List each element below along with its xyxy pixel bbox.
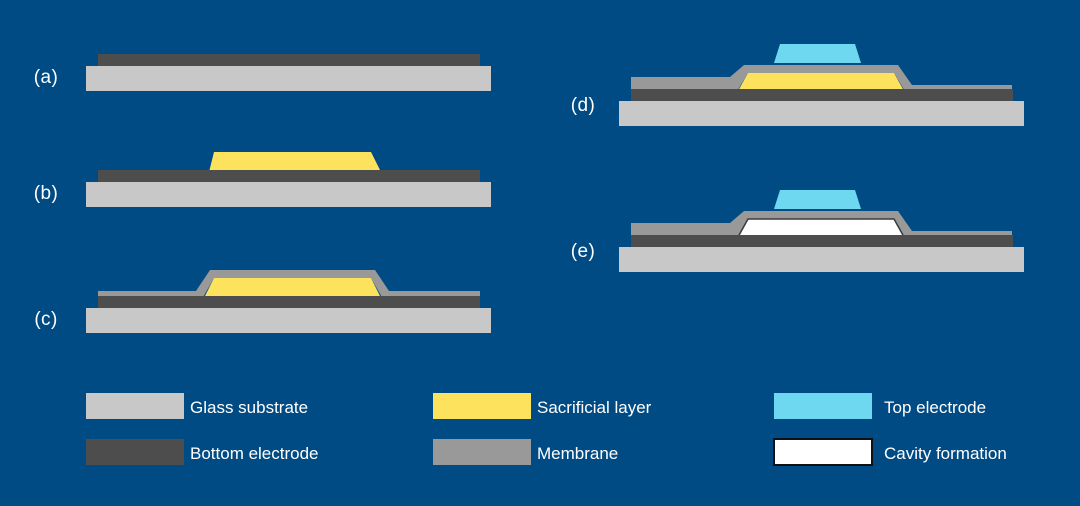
legend-swatch-sacrificial-layer: [433, 393, 531, 419]
panel-b-sacrificial-layer: [209, 152, 381, 172]
legend-label-cavity-formation: Cavity formation: [884, 444, 1007, 463]
panel-d-top-electrode: [774, 44, 861, 63]
panel-a-glass-substrate: [86, 66, 491, 91]
panel-d-bottom-electrode: [631, 89, 1013, 101]
legend-swatch-bottom-electrode: [86, 439, 184, 465]
panel-c-sacrificial-layer: [204, 278, 381, 298]
legend-swatch-membrane: [433, 439, 531, 465]
legend-label-membrane: Membrane: [537, 444, 618, 463]
panel-a-label: (a): [34, 67, 58, 88]
panel-d-glass-substrate: [619, 101, 1024, 126]
legend-label-top-electrode: Top electrode: [884, 398, 986, 417]
legend-swatch-top-electrode: [774, 393, 872, 419]
panel-c-label: (c): [34, 309, 57, 330]
panel-c-glass-substrate: [86, 308, 491, 333]
legend-label-glass-substrate: Glass substrate: [190, 398, 308, 417]
process-flow-diagram: (a) (b) (c) (d) (e) Glass: [0, 0, 1080, 506]
panel-b-bottom-electrode: [98, 170, 480, 182]
panel-b-glass-substrate: [86, 182, 491, 207]
panel-e-top-electrode: [774, 190, 861, 209]
panel-d-sacrificial-layer: [738, 73, 904, 91]
panel-c-bottom-electrode: [98, 296, 480, 308]
panel-a-bottom-electrode: [98, 54, 480, 66]
panel-e-label: (e): [571, 241, 595, 262]
legend-label-bottom-electrode: Bottom electrode: [190, 444, 319, 463]
legend-swatch-glass-substrate: [86, 393, 184, 419]
panel-d-label: (d): [571, 95, 595, 116]
panel-e-bottom-electrode: [631, 235, 1013, 247]
panel-a: (a): [34, 54, 491, 91]
panel-e-cavity-formation: [738, 219, 904, 237]
legend-label-sacrificial-layer: Sacrificial layer: [537, 398, 652, 417]
panel-e-glass-substrate: [619, 247, 1024, 272]
legend-swatch-cavity-formation: [774, 439, 872, 465]
panel-b-label: (b): [34, 183, 58, 204]
